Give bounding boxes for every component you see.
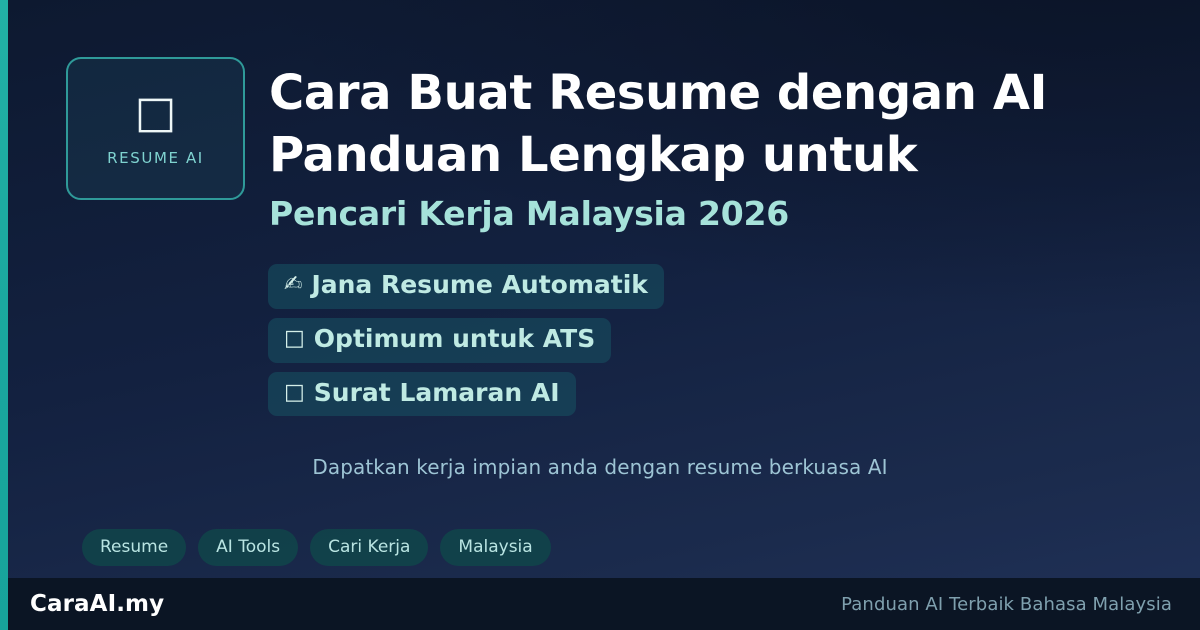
tag-list: Resume AI Tools Cari Kerja Malaysia bbox=[82, 529, 551, 566]
left-accent-strip bbox=[0, 0, 8, 630]
feature-badge-list: ✍ Jana Resume Automatik □ Optimum untuk … bbox=[268, 264, 664, 416]
description-text: Dapatkan kerja impian anda dengan resume… bbox=[0, 455, 1200, 479]
headline-block: Cara Buat Resume dengan AI Panduan Lengk… bbox=[269, 62, 1149, 234]
footer-tagline: Panduan AI Terbaik Bahasa Malaysia bbox=[841, 594, 1172, 615]
page-title: Cara Buat Resume dengan AI Panduan Lengk… bbox=[269, 62, 1149, 187]
tag-item: Cari Kerja bbox=[310, 529, 428, 566]
feature-badge: □ Surat Lamaran AI bbox=[268, 372, 576, 417]
resume-ai-logo-badge: □ RESUME AI bbox=[66, 57, 245, 200]
missing-glyph-box-icon: □ bbox=[135, 91, 177, 135]
writing-hand-icon: ✍ bbox=[284, 274, 302, 296]
logo-label: RESUME AI bbox=[107, 149, 204, 167]
footer-brand: CaraAI.my bbox=[30, 591, 164, 617]
tag-item: Malaysia bbox=[440, 529, 550, 566]
feature-badge-label: Jana Resume Automatik bbox=[311, 271, 647, 300]
missing-glyph-box-icon: □ bbox=[284, 328, 305, 350]
feature-badge: □ Optimum untuk ATS bbox=[268, 318, 611, 363]
tag-item: Resume bbox=[82, 529, 186, 566]
missing-glyph-box-icon: □ bbox=[284, 382, 305, 404]
og-card: □ RESUME AI Cara Buat Resume dengan AI P… bbox=[0, 0, 1200, 630]
page-subtitle: Pencari Kerja Malaysia 2026 bbox=[269, 193, 1149, 234]
footer-bar: CaraAI.my Panduan AI Terbaik Bahasa Mala… bbox=[0, 578, 1200, 630]
feature-badge-label: Surat Lamaran AI bbox=[314, 379, 560, 408]
tag-item: AI Tools bbox=[198, 529, 298, 566]
feature-badge-label: Optimum untuk ATS bbox=[314, 325, 595, 354]
card-content: □ RESUME AI Cara Buat Resume dengan AI P… bbox=[0, 0, 1200, 578]
feature-badge: ✍ Jana Resume Automatik bbox=[268, 264, 664, 309]
